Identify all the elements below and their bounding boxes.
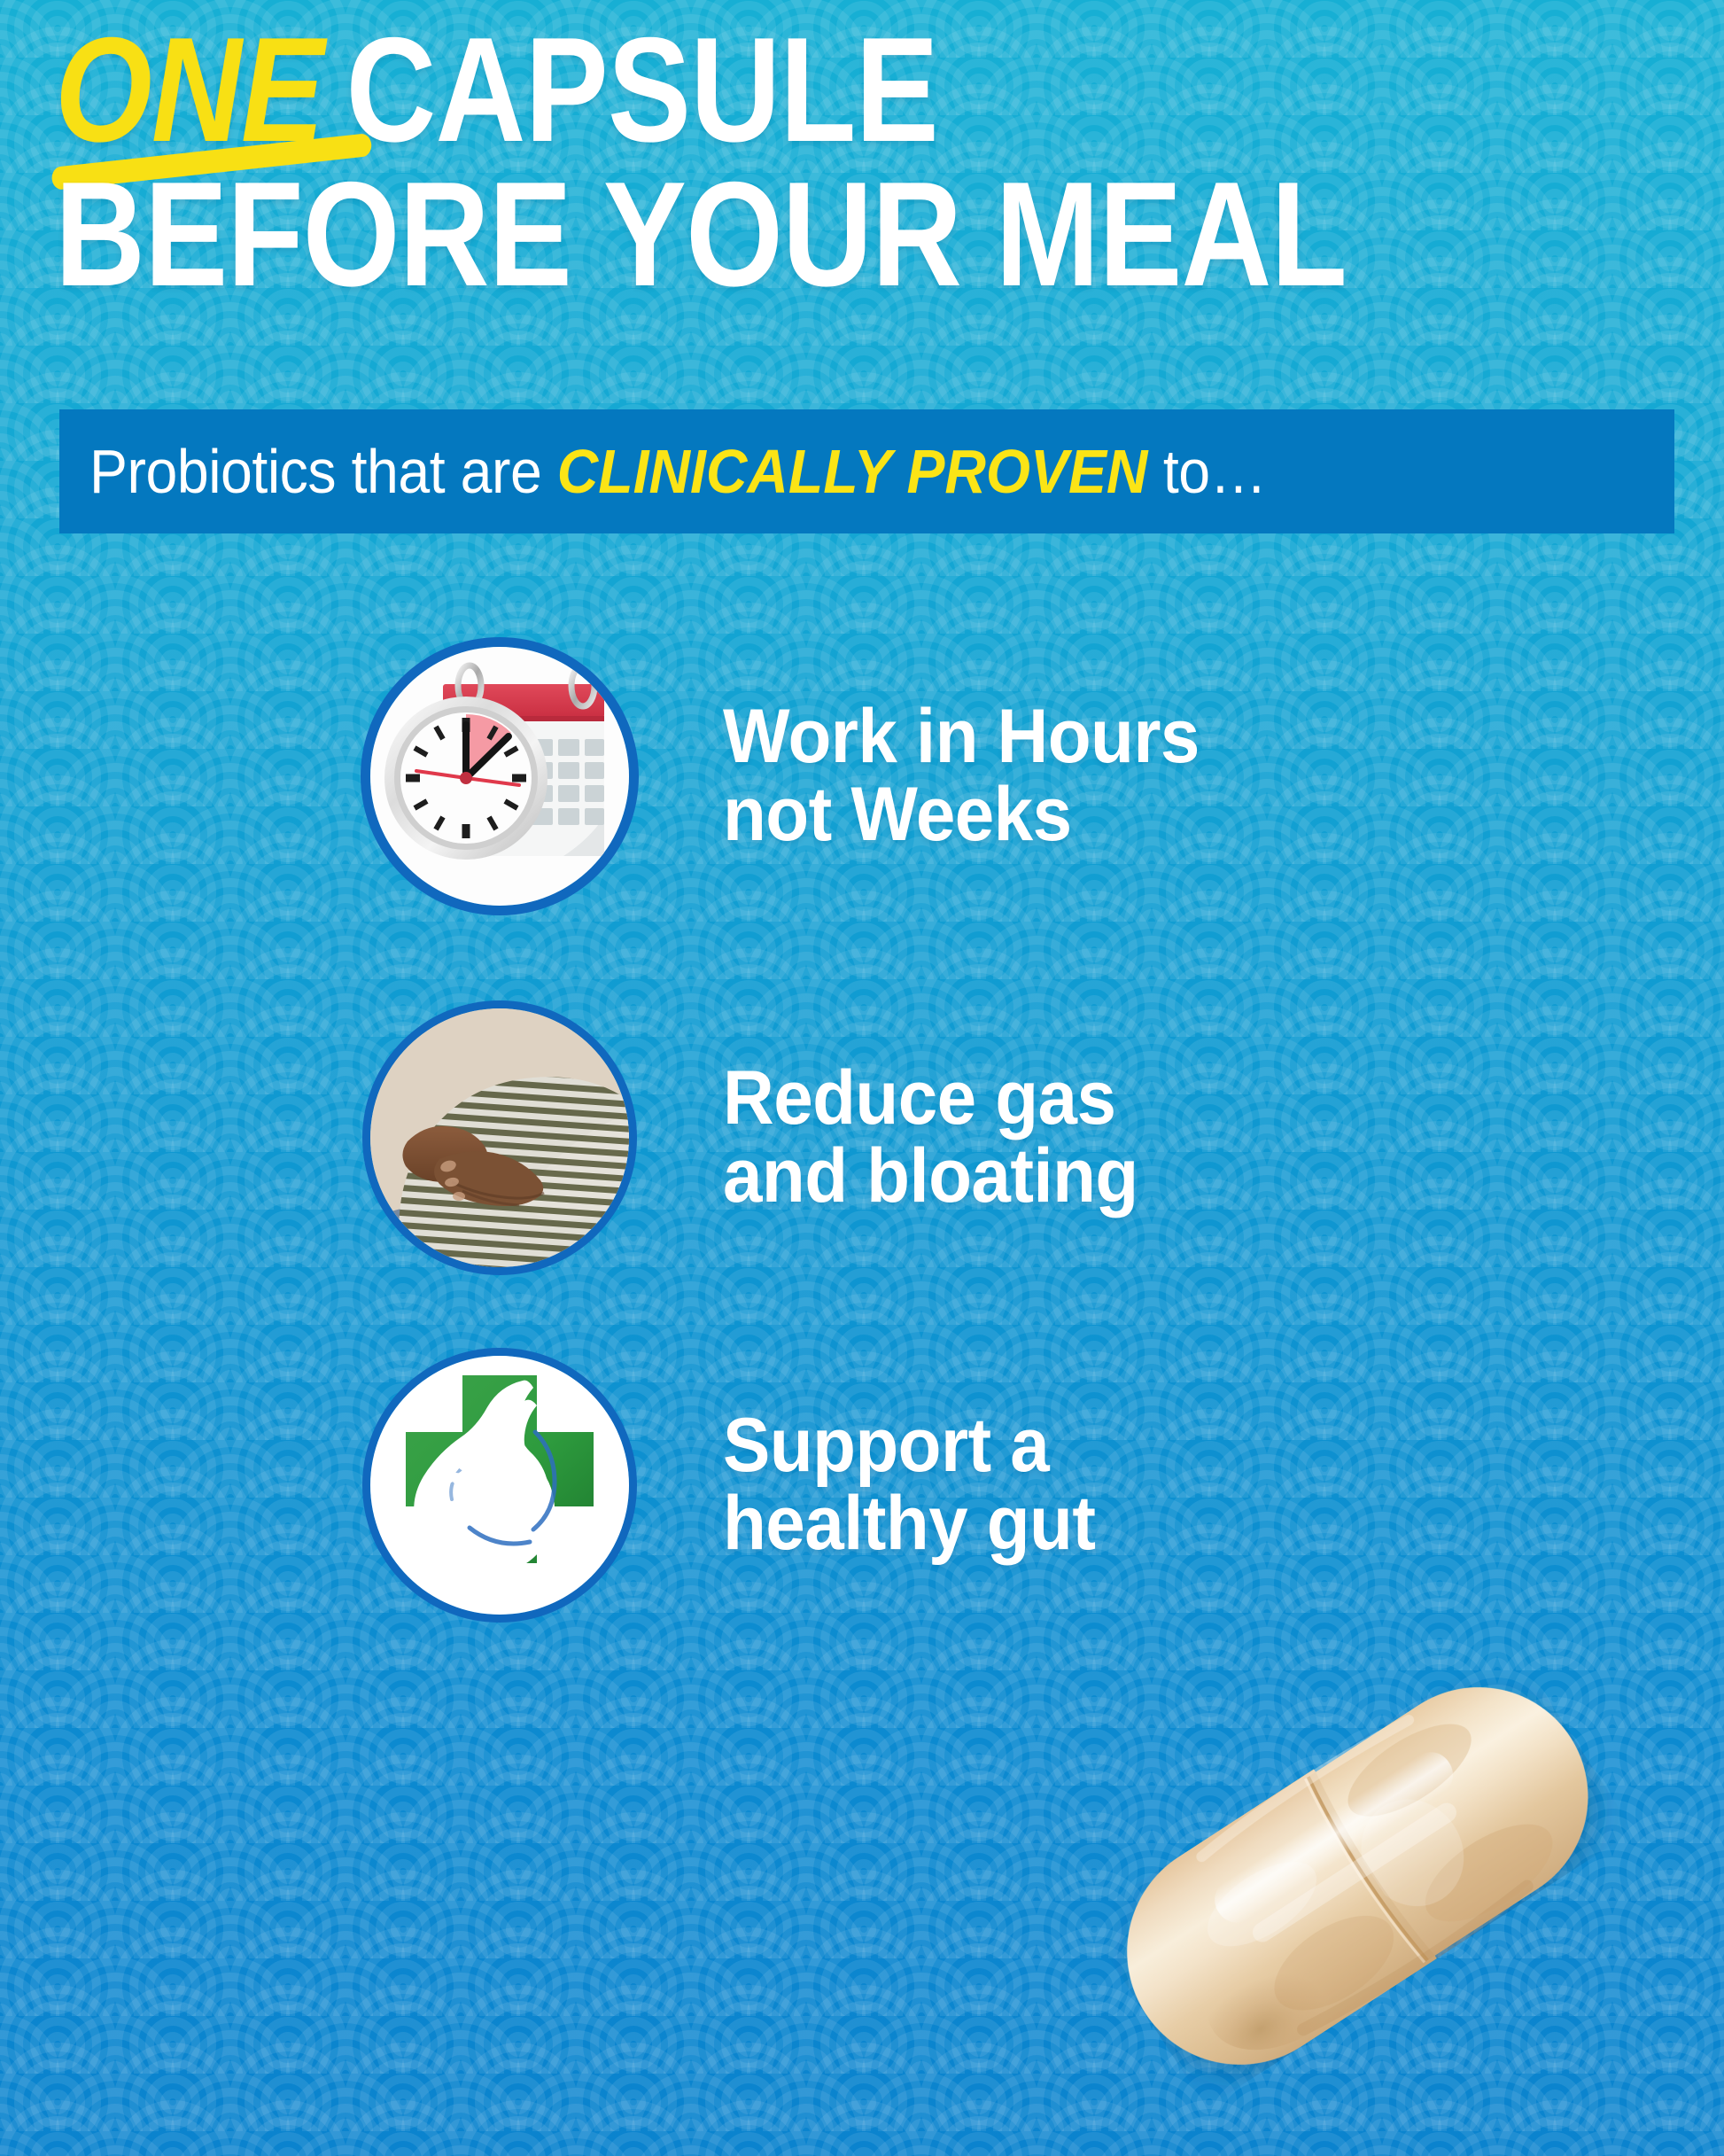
banner-suffix: to…: [1147, 437, 1266, 506]
headline: ONECAPSULE BEFORE YOUR MEAL: [55, 21, 1667, 302]
clinically-proven-banner: Probiotics that are CLINICALLY PROVEN to…: [59, 409, 1674, 533]
headline-line-1: ONECAPSULE: [55, 21, 1409, 159]
stomach-holding-person-glyph: [370, 1008, 629, 1267]
capsule-glyph: [1083, 1641, 1634, 2108]
feature-label: Support a healthy gut: [723, 1407, 1095, 1562]
clock-calendar-icon: [370, 647, 629, 906]
headline-highlight-word: ONE: [55, 21, 327, 159]
feature-row: Work in Hours not Weeks: [370, 647, 1611, 906]
banner-text: Probiotics that are CLINICALLY PROVEN to…: [89, 440, 1267, 502]
banner-emphasis: CLINICALLY PROVEN: [557, 437, 1148, 506]
feature-label: Reduce gas and bloating: [723, 1060, 1138, 1215]
green-cross-stomach-glyph: [370, 1356, 629, 1615]
bloated-stomach-photo-icon: [370, 1008, 629, 1267]
feature-label: Work in Hours not Weeks: [723, 698, 1200, 853]
banner-prefix: Probiotics that are: [89, 437, 557, 506]
capsule-photo: [1104, 1677, 1613, 2049]
feature-row: Support a healthy gut: [370, 1356, 1611, 1615]
headline-line-2: BEFORE YOUR MEAL: [55, 166, 1409, 303]
feature-row: Reduce gas and bloating: [370, 1008, 1611, 1267]
gut-health-cross-icon: [370, 1356, 629, 1615]
headline-line-1-rest: CAPSULE: [346, 6, 937, 173]
advertisement-poster: ONECAPSULE BEFORE YOUR MEAL Probiotics t…: [0, 0, 1724, 2156]
clock-calendar-glyph: [370, 647, 629, 906]
